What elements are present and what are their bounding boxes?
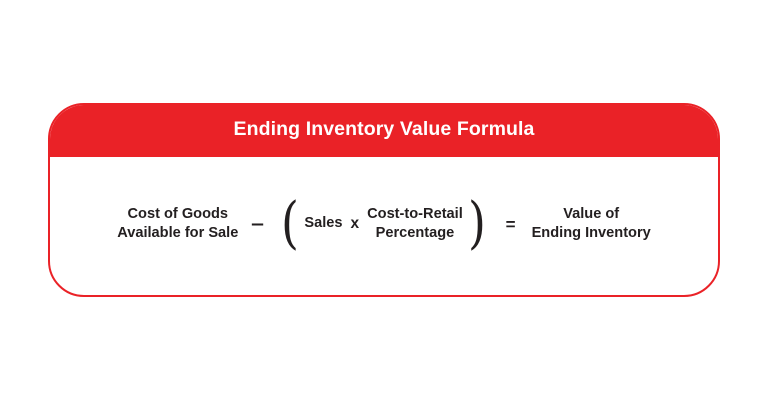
open-parenthesis-icon: ( [281, 207, 299, 242]
close-parenthesis-icon: ) [468, 207, 486, 242]
term-1-line-1: Cost of Goods [117, 205, 238, 224]
multiply-operator: x [350, 216, 359, 232]
term-2-line-1: Sales [304, 214, 342, 233]
card-header-band: Ending Inventory Value Formula [48, 103, 720, 157]
term-value-of-ending-inventory: Value of Ending Inventory [532, 205, 651, 244]
term-3-line-1: Cost-to-Retail [367, 205, 463, 224]
term-1-line-2: Available for Sale [117, 224, 238, 243]
term-sales: Sales [304, 214, 342, 233]
term-cost-of-goods-available-for-sale: Cost of Goods Available for Sale [117, 205, 238, 244]
card-body: Cost of Goods Available for Sale – ( Sal… [50, 157, 718, 295]
term-3-line-2: Percentage [367, 224, 463, 243]
term-4-line-2: Ending Inventory [532, 224, 651, 243]
formula-expression: Cost of Goods Available for Sale – ( Sal… [117, 205, 651, 244]
term-cost-to-retail-percentage: Cost-to-Retail Percentage [367, 205, 463, 244]
parenthesized-group: ( Sales x Cost-to-Retail Percentage ) [277, 205, 489, 244]
formula-card: Ending Inventory Value Formula Cost of G… [48, 103, 720, 297]
term-4-line-1: Value of [532, 205, 651, 224]
page-title: Ending Inventory Value Formula [234, 120, 535, 140]
minus-operator: – [252, 214, 265, 234]
equals-operator: = [506, 216, 516, 233]
screenshot-canvas: Ending Inventory Value Formula Cost of G… [0, 0, 768, 402]
